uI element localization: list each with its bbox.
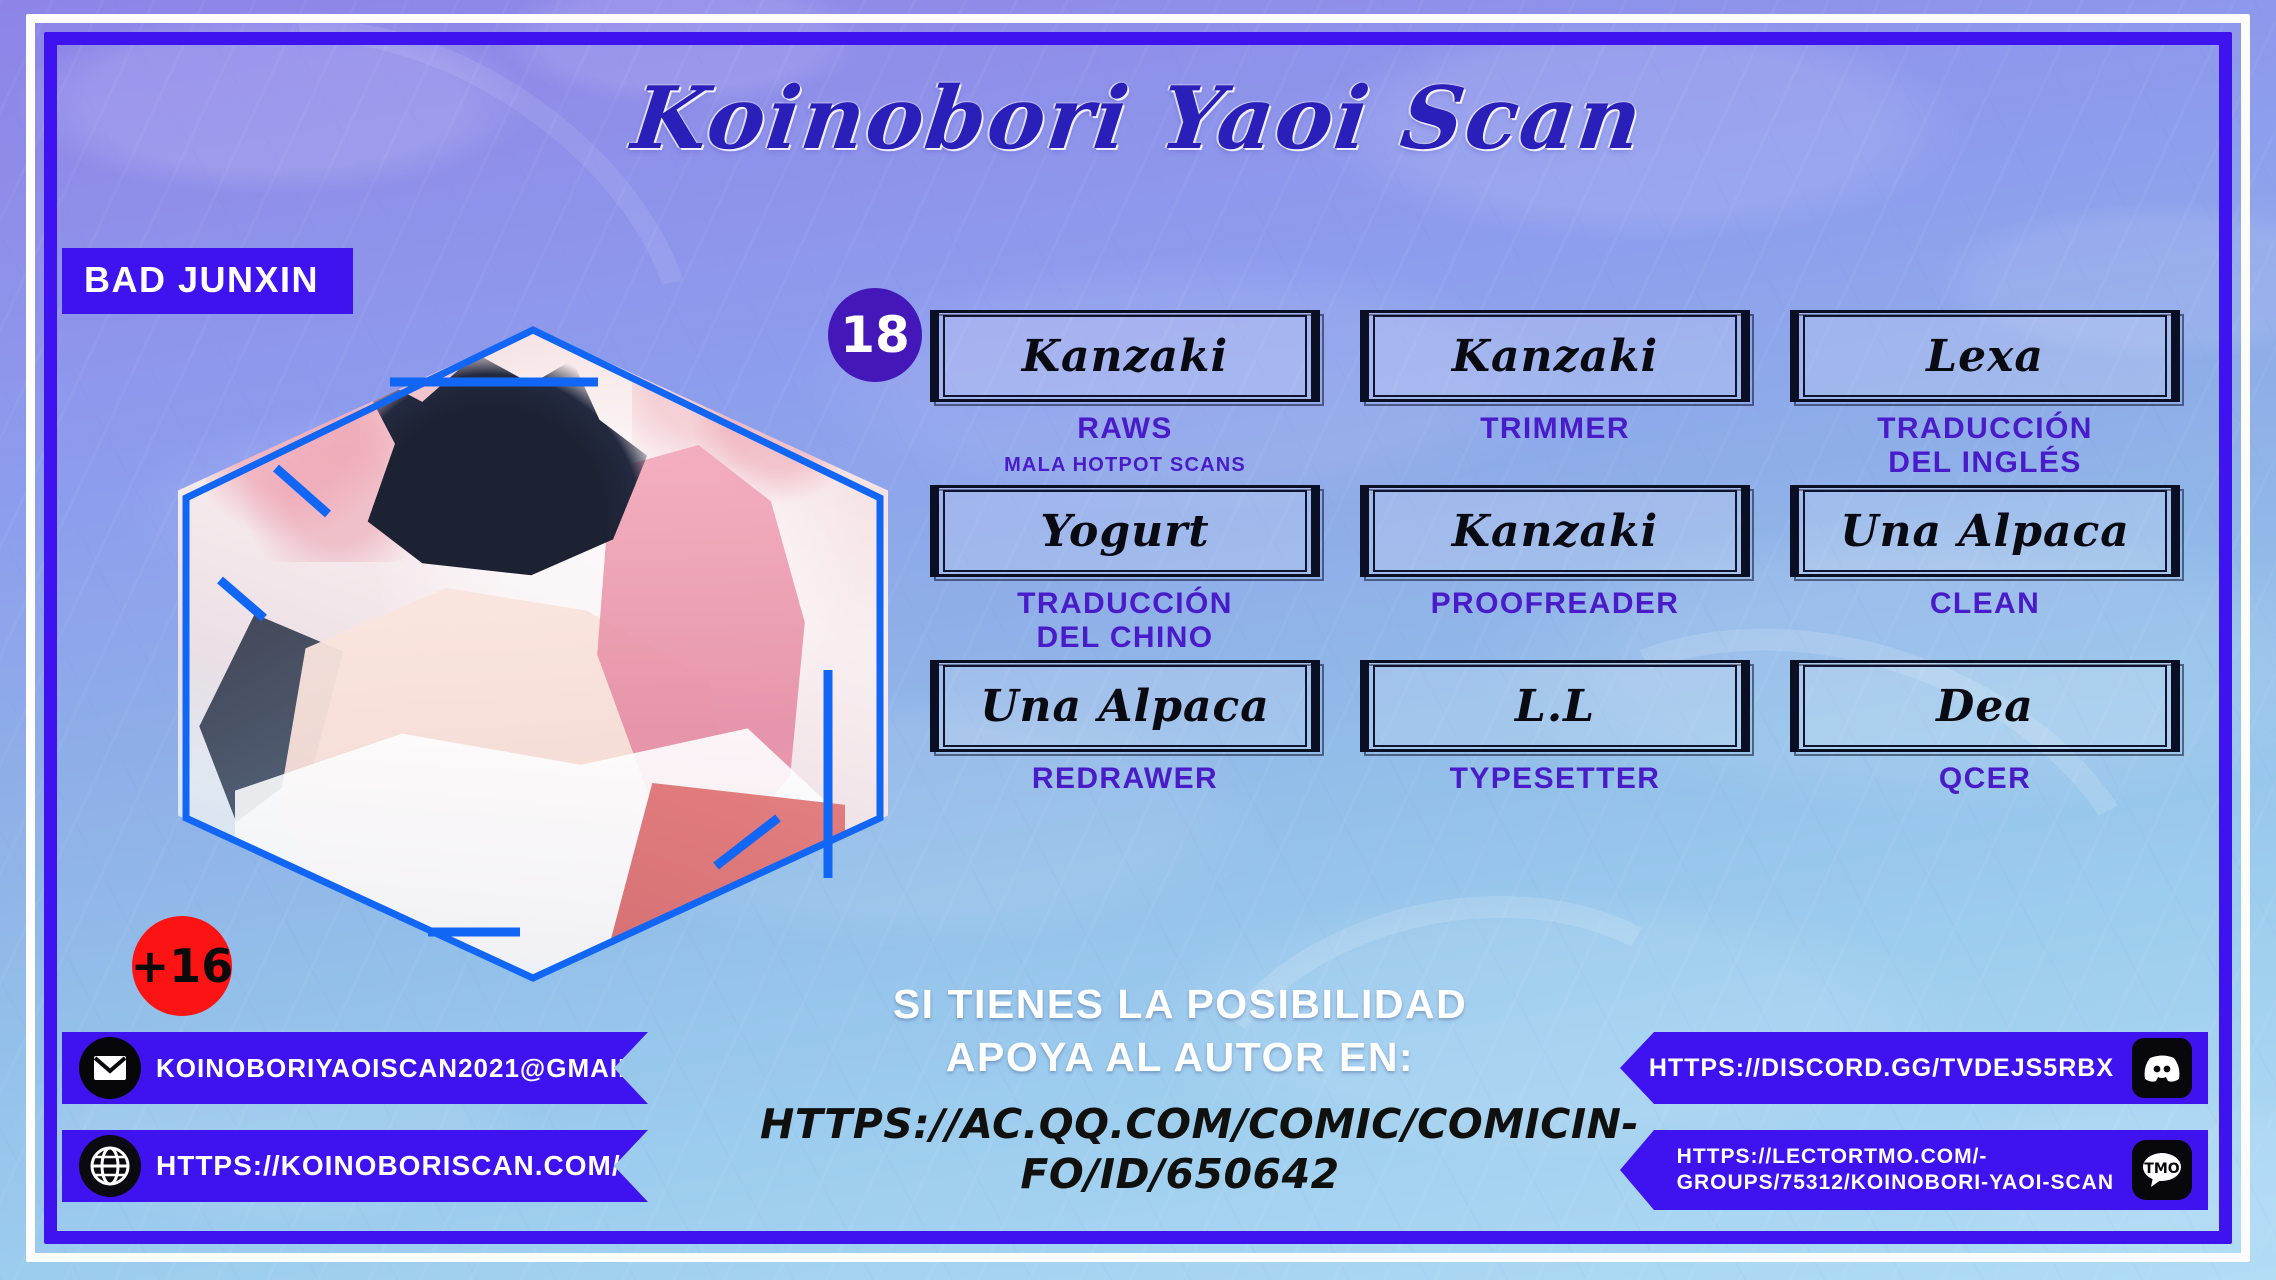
credit-role: TRADUCCIÓN DEL INGLÉS (1877, 412, 2093, 479)
credit-name: Kanzaki (1360, 485, 1750, 577)
support-line-2: APOYA AL AUTOR EN: (760, 1031, 1600, 1084)
credit-entry-clean: Una Alpaca CLEAN (1790, 485, 2180, 654)
contact-discord-text: HTTPS://DISCORD.GG/TVDEJS5RBX (1649, 1054, 2114, 1083)
page-title: Koinobori Yaoi Scan (0, 68, 2276, 169)
credit-entry-raws: Kanzaki RAWS MALA HOTPOT SCANS (930, 310, 1320, 479)
credit-role: TRIMMER (1480, 412, 1630, 446)
credit-name-box: Kanzaki (1360, 485, 1750, 577)
credit-name: Kanzaki (930, 310, 1320, 402)
mail-icon (78, 1036, 142, 1100)
credit-name: Yogurt (930, 485, 1320, 577)
credit-name: L.L (1360, 660, 1750, 752)
contact-website-text: HTTPS://KOINOBORISCAN.COM/ (156, 1150, 621, 1182)
credit-name: Una Alpaca (1790, 485, 2180, 577)
tmo-glyph: TMO (2140, 1150, 2184, 1190)
credit-role: TRADUCCIÓN DEL CHINO (1017, 587, 1233, 654)
credit-name: Lexa (1790, 310, 2180, 402)
support-line-1: SI TIENES LA POSIBILIDAD (760, 978, 1600, 1031)
poster-canvas: Koinobori Yaoi Scan BAD JUNXIN 18 +16 (0, 0, 2276, 1280)
credit-name-box: Lexa (1790, 310, 2180, 402)
credits-grid: Kanzaki RAWS MALA HOTPOT SCANS Kanzaki T… (930, 310, 2180, 796)
credit-name-box: Una Alpaca (1790, 485, 2180, 577)
credit-name-box: Kanzaki (930, 310, 1320, 402)
contact-discord-ribbon[interactable]: HTTPS://DISCORD.GG/TVDEJS5RBX (1620, 1032, 2208, 1104)
credit-name-box: Yogurt (930, 485, 1320, 577)
credit-role: PROOFREADER (1431, 587, 1680, 621)
credit-entry-typesetter: L.L TYPESETTER (1360, 660, 1750, 796)
credit-name-box: Una Alpaca (930, 660, 1320, 752)
credit-entry-redrawer: Una Alpaca REDRAWER (930, 660, 1320, 796)
cover-artwork (178, 328, 888, 978)
manga-title-chip: BAD JUNXIN (62, 248, 353, 314)
credit-role: RAWS (1077, 412, 1173, 446)
credit-entry-proofreader: Kanzaki PROOFREADER (1360, 485, 1750, 654)
svg-text:TMO: TMO (2144, 1161, 2179, 1177)
credit-name-box: Kanzaki (1360, 310, 1750, 402)
discord-glyph (2141, 1052, 2183, 1084)
credit-role: REDRAWER (1032, 762, 1218, 796)
support-author-block: SI TIENES LA POSIBILIDAD APOYA AL AUTOR … (760, 978, 1600, 1199)
credit-name: Dea (1790, 660, 2180, 752)
contact-tmo-text: HTTPS://LECTORTMO.COM/- GROUPS/75312/KOI… (1677, 1144, 2114, 1195)
age-badge-16: +16 (132, 916, 232, 1016)
credit-entry-qcer: Dea QCER (1790, 660, 2180, 796)
tmo-icon: TMO (2130, 1138, 2194, 1202)
contact-tmo-ribbon[interactable]: HTTPS://LECTORTMO.COM/- GROUPS/75312/KOI… (1620, 1130, 2208, 1210)
globe-glyph (88, 1144, 132, 1188)
credit-role: QCER (1939, 762, 2031, 796)
credit-name: Kanzaki (1360, 310, 1750, 402)
credit-name-box: Dea (1790, 660, 2180, 752)
globe-icon (78, 1134, 142, 1198)
credit-name: Una Alpaca (930, 660, 1320, 752)
credit-role: TYPESETTER (1450, 762, 1661, 796)
credit-entry-translation-chinese: Yogurt TRADUCCIÓN DEL CHINO (930, 485, 1320, 654)
credit-entry-translation-english: Lexa TRADUCCIÓN DEL INGLÉS (1790, 310, 2180, 479)
support-author-url[interactable]: HTTPS://AC.QQ.COM/COMIC/COMICIN-FO/ID/65… (760, 1099, 1600, 1199)
credits-source-note: MALA HOTPOT SCANS (1004, 454, 1246, 477)
discord-icon (2130, 1036, 2194, 1100)
mail-glyph (92, 1054, 128, 1082)
credit-entry-trimmer: Kanzaki TRIMMER (1360, 310, 1750, 479)
contact-email-ribbon[interactable]: KOINOBORIYAOISCAN2021@GMAIL.COM (62, 1032, 648, 1104)
contact-website-ribbon[interactable]: HTTPS://KOINOBORISCAN.COM/ (62, 1130, 648, 1202)
credit-role: CLEAN (1930, 587, 2040, 621)
age-badge-18: 18 (828, 288, 922, 382)
cover-hexagon: 18 +16 (168, 318, 898, 988)
credit-name-box: L.L (1360, 660, 1750, 752)
